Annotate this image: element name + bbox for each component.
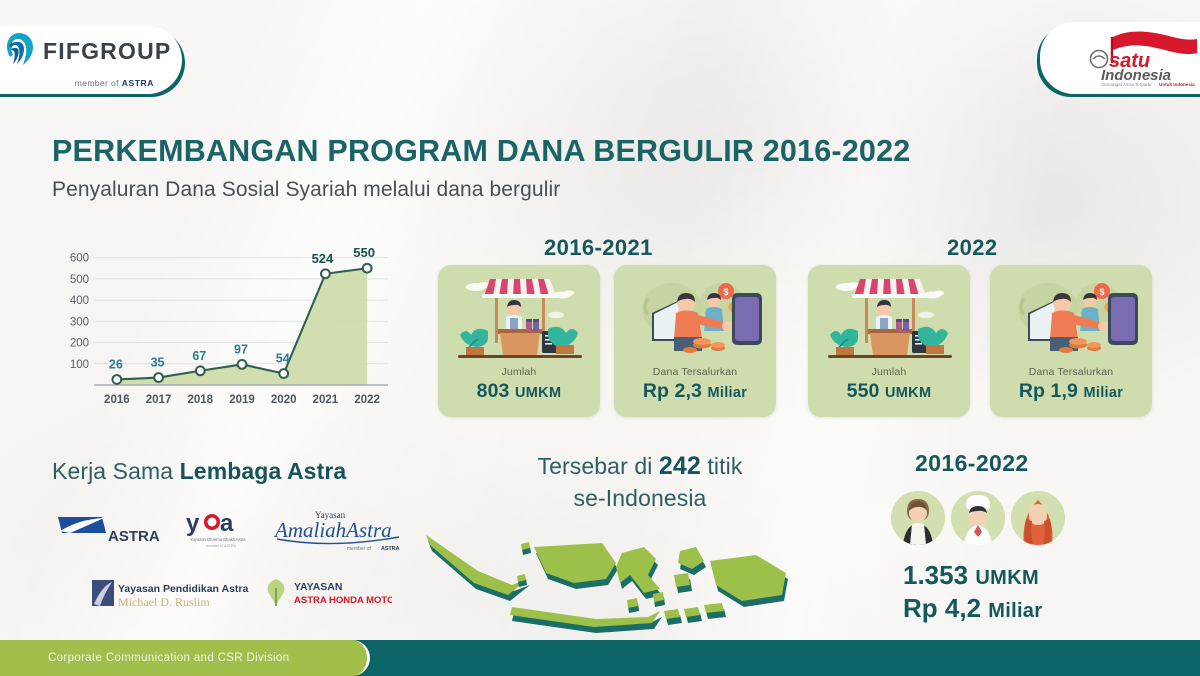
stat-card-umkm-2022: Jumlah 550 UMKM bbox=[808, 265, 970, 417]
svg-text:Yayasan Pendidikan Astra: Yayasan Pendidikan Astra bbox=[118, 583, 248, 595]
page-title: PERKEMBANGAN PROGRAM DANA BERGULIR 2016-… bbox=[52, 134, 910, 169]
avatar-chef bbox=[951, 491, 1005, 545]
fifgroup-thumbprint-icon bbox=[4, 32, 34, 71]
svg-text:ASTRA: ASTRA bbox=[108, 528, 160, 545]
amaliah-astra-logo: Yayasan AmaliahAstra member of ASTRA bbox=[271, 505, 411, 553]
total-dana: Rp 4,2 Miliar bbox=[903, 593, 1042, 624]
totals-heading: 2016-2022 bbox=[915, 450, 1029, 477]
svg-text:y: y bbox=[186, 510, 200, 537]
digital-payment-illustration: $ $ bbox=[990, 269, 1152, 365]
svg-text:54: 54 bbox=[276, 352, 290, 366]
satu-indonesia-flag-icon: satu Indonesia Semangat Astra Terpadu Un… bbox=[1067, 29, 1200, 87]
map-title: Tersebar di 242 titik se-Indonesia bbox=[480, 450, 800, 513]
card-value: 803 UMKM bbox=[477, 380, 562, 403]
fifgroup-tagline: member of ASTRA bbox=[75, 78, 172, 88]
svg-text:ASTRA: ASTRA bbox=[381, 546, 400, 552]
indonesia-archipelago-map bbox=[418, 525, 822, 647]
partners-title: Kerja Sama Lembaga Astra bbox=[52, 458, 346, 485]
svg-text:AmaliahAstra: AmaliahAstra bbox=[273, 518, 392, 542]
fifgroup-logo-chip: FIFGROUP member of ASTRA bbox=[0, 26, 182, 94]
svg-text:26: 26 bbox=[109, 357, 123, 371]
card-value: Rp 1,9 Miliar bbox=[1019, 380, 1123, 403]
svg-text:$: $ bbox=[1099, 287, 1104, 297]
svg-text:2022: 2022 bbox=[354, 394, 380, 406]
yayasan-astra-honda-motor-logo: YAYASAN ASTRA HONDA MOTOR bbox=[262, 576, 392, 610]
svg-text:2019: 2019 bbox=[229, 394, 255, 406]
partner-logo-row-bottom: Yayasan Pendidikan Astra Michael D. Rusl… bbox=[90, 576, 390, 610]
stat-card-umkm-2016-2021: Jumlah 803 UMKM bbox=[438, 265, 600, 417]
svg-text:100: 100 bbox=[70, 359, 89, 371]
svg-text:Semangat Astra Terpadu: Semangat Astra Terpadu bbox=[1101, 82, 1152, 87]
stat-card-dana-2016-2021: $ $ Dana Tersalurkan Rp 2,3 Milia bbox=[614, 265, 776, 417]
title-block: PERKEMBANGAN PROGRAM DANA BERGULIR 2016-… bbox=[52, 134, 910, 202]
fifgroup-wordmark: FIFGROUP bbox=[43, 38, 171, 65]
svg-text:2017: 2017 bbox=[146, 394, 172, 406]
page-subtitle: Penyaluran Dana Sosial Syariah melalui d… bbox=[52, 178, 910, 202]
card-value: 550 UMKM bbox=[847, 380, 932, 403]
stat-card-dana-2022: $ $ Dana Tersalurkan Rp 1,9 Milia bbox=[990, 265, 1152, 417]
svg-text:2018: 2018 bbox=[187, 394, 213, 406]
footer-bar-right bbox=[330, 640, 1200, 676]
card-caption: Jumlah bbox=[502, 366, 537, 378]
card-caption: Dana Tersalurkan bbox=[1029, 366, 1114, 378]
svg-text:524: 524 bbox=[312, 251, 334, 266]
svg-text:550: 550 bbox=[353, 245, 375, 260]
footer-text: Corporate Communication and CSR Division bbox=[48, 652, 290, 664]
ydba-logo: y a Yayasan Dharma Bhakti Astra member o… bbox=[184, 505, 260, 553]
svg-text:Untuk Indonesia: Untuk Indonesia bbox=[1159, 82, 1195, 87]
partner-logo-row-top: ASTRA y a Yayasan Dharma Bhakti Astra me… bbox=[56, 505, 456, 555]
svg-text:$: $ bbox=[723, 287, 728, 297]
svg-text:200: 200 bbox=[70, 338, 89, 350]
avatar-woman-hijab bbox=[1011, 491, 1065, 545]
svg-text:2016: 2016 bbox=[104, 394, 130, 406]
digital-payment-illustration: $ $ bbox=[614, 269, 776, 365]
svg-text:member of: member of bbox=[347, 546, 372, 552]
avatar-woman-apron bbox=[891, 491, 945, 545]
svg-text:500: 500 bbox=[70, 274, 89, 286]
svg-text:300: 300 bbox=[70, 316, 89, 328]
astra-logo: ASTRA bbox=[56, 511, 166, 549]
market-stall-illustration bbox=[438, 269, 600, 365]
svg-text:member of ASTRA: member of ASTRA bbox=[206, 544, 237, 548]
svg-text:600: 600 bbox=[70, 253, 89, 265]
avatar-group bbox=[891, 491, 1065, 545]
svg-text:YAYASAN: YAYASAN bbox=[294, 581, 342, 593]
svg-text:Yayasan Dharma Bhakti Astra: Yayasan Dharma Bhakti Astra bbox=[190, 537, 246, 542]
yayasan-pendidikan-astra-logo: Yayasan Pendidikan Astra Michael D. Rusl… bbox=[90, 576, 250, 610]
total-umkm: 1.353 UMKM bbox=[903, 560, 1039, 591]
svg-text:97: 97 bbox=[234, 342, 248, 356]
footer-bar-left: Corporate Communication and CSR Division bbox=[0, 640, 370, 676]
svg-text:2021: 2021 bbox=[313, 394, 339, 406]
group-heading-2016-2021: 2016-2021 bbox=[544, 235, 653, 261]
svg-text:67: 67 bbox=[192, 349, 206, 363]
svg-text:ASTRA HONDA MOTOR: ASTRA HONDA MOTOR bbox=[294, 595, 392, 606]
line-chart: 1002003004005006002635679754524550201620… bbox=[52, 233, 392, 423]
svg-text:Michael D. Ruslim: Michael D. Ruslim bbox=[118, 595, 210, 609]
svg-text:400: 400 bbox=[70, 295, 89, 307]
card-caption: Dana Tersalurkan bbox=[653, 366, 738, 378]
card-caption: Jumlah bbox=[872, 366, 907, 378]
svg-text:2020: 2020 bbox=[271, 394, 297, 406]
svg-text:a: a bbox=[220, 510, 234, 537]
market-stall-illustration bbox=[808, 269, 970, 365]
card-value: Rp 2,3 Miliar bbox=[643, 380, 747, 403]
satu-indonesia-logo-chip: satu Indonesia Semangat Astra Terpadu Un… bbox=[1040, 22, 1200, 94]
group-heading-2022: 2022 bbox=[947, 235, 998, 261]
svg-text:35: 35 bbox=[151, 356, 165, 370]
